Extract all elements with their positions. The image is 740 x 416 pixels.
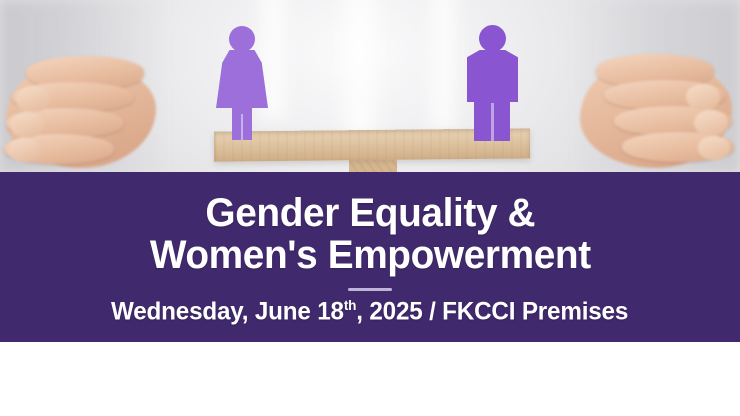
event-title-line-2: Women's Empowerment [150,234,591,276]
event-date-suffix: , 2025 / FKCCI Premises [357,297,629,325]
logo-footer: AMBASSADE DE FRANCE EN RÉPUBLIQUE DE COR… [0,342,740,416]
figurine-head [479,25,506,52]
event-title: Gender Equality & Women's Empowerment [150,192,591,277]
event-poster: Gender Equality & Women's Empowerment We… [0,0,740,416]
event-datetime-venue: Wednesday, June 18th, 2025 / FKCCI Premi… [111,297,628,326]
hero-photo [0,0,740,173]
right-hand [556,50,738,173]
event-date-prefix: Wednesday, June 18 [111,297,344,325]
shirt-fold [330,0,390,136]
shirt-fold [420,0,466,130]
figurine-head [229,26,255,52]
title-band: Gender Equality & Women's Empowerment We… [0,172,740,342]
figurine-body [216,50,268,108]
event-date-ordinal: th [344,297,356,313]
male-figurine [462,25,522,143]
figurine-legs [232,106,252,140]
figurine-body [467,50,518,102]
left-hand [2,52,182,173]
title-divider [348,288,392,291]
event-title-line-1: Gender Equality & [205,191,535,235]
female-figurine [213,26,271,142]
figurine-legs [474,99,510,141]
